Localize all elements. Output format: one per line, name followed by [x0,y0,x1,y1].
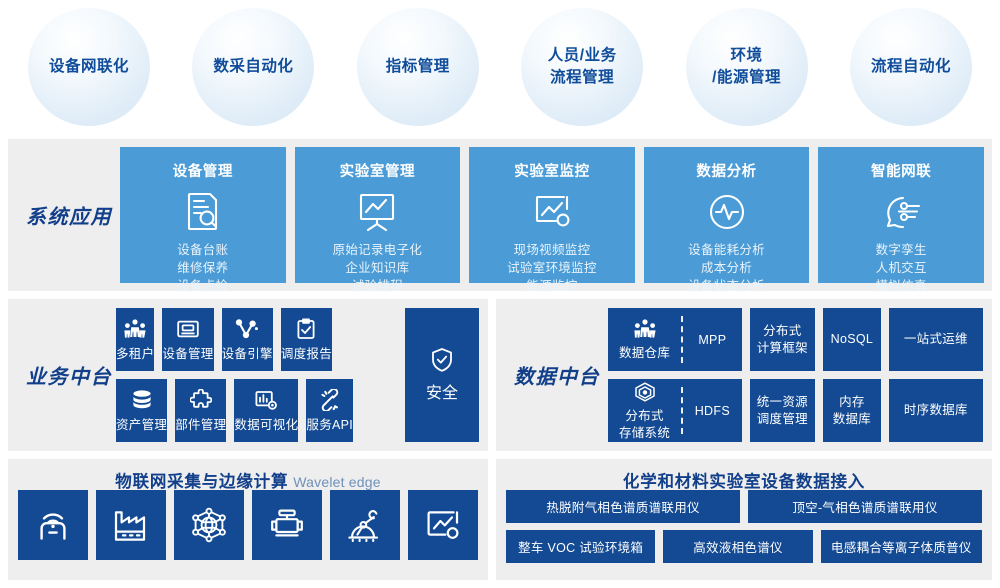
tile-label: 分布式 存储系统 [619,408,670,441]
lab-chip-icp-ms[interactable]: 电感耦合等离子体质普仪 [821,530,982,563]
tile-label-hdfs: HDFS [683,379,741,442]
business-tile-dispatch-report[interactable]: 调度报告 [281,308,332,371]
tile-label: NoSQL [831,331,874,347]
factory-icon [112,508,150,542]
lab-chip-label: 顶空-气相色谱质谱联用仪 [792,497,937,516]
tile-label: 时序数据库 [904,402,968,418]
tile-label: 设备引擎 [222,346,273,362]
lab-instruments-header: 化学和材料实验室设备数据接入 [496,459,992,490]
iot-edge-band: 物联网采集与边缘计算Wavelet edge [8,459,488,580]
business-platform-band: 业务中台 多租户 [8,299,488,451]
warehouse-people-icon [633,317,657,341]
capability-label: 流程自动化 [871,56,951,77]
card-title: 实验室管理 [340,160,416,181]
system-app-card-data-analysis[interactable]: 数据分析 设备能耗分析 成本分析 设备状态分析 [644,147,810,283]
capability-label: 指标管理 [386,56,450,77]
iot-edge-subtitle: Wavelet edge [293,474,381,490]
capability-bubble[interactable]: 设备网联化 [28,8,150,126]
lab-chip-hplc[interactable]: 高效液相色谱仪 [663,530,812,563]
capability-bubble[interactable]: 人员/业务 流程管理 [521,8,643,126]
puzzle-icon [190,388,212,412]
data-tile-warehouse-mpp[interactable]: 数据仓库 MPP [608,308,742,371]
capability-bubble[interactable]: 环境 /能源管理 [686,8,808,126]
data-tile-timeseries-database[interactable]: 时序数据库 [889,379,983,442]
business-tile-device-engine[interactable]: 设备引擎 [222,308,273,371]
lab-chip-label: 整车 VOC 试验环境箱 [518,537,643,556]
iot-icon-tile-factory[interactable] [96,490,166,560]
lab-chip-row-2: 整车 VOC 试验环境箱 高效液相色谱仪 电感耦合等离子体质普仪 [506,530,982,563]
business-tile-grid: 多租户 设备管理 [116,308,397,442]
business-tile-row-1: 多租户 设备管理 [116,308,397,371]
card-feature-lines: 设备能耗分析 成本分析 设备状态分析 [688,242,765,295]
data-tile-storage-hdfs[interactable]: 分布式 存储系统 HDFS [608,379,742,442]
tile-label: 设备管理 [162,346,213,362]
data-tile-memory-database[interactable]: 内存 数据库 [823,379,881,442]
lab-chip-voc-chamber[interactable]: 整车 VOC 试验环境箱 [506,530,655,563]
tile-label: 内存 数据库 [833,394,871,427]
data-tile-distributed-compute[interactable]: 分布式 计算框架 [750,308,815,371]
clipboard-check-icon [295,317,317,341]
data-tile-grid: 数据仓库 MPP 分布式 计算框架 NoSQL 一站式运维 [608,308,983,442]
capability-bubble[interactable]: 流程自动化 [850,8,972,126]
card-feature-lines: 设备台账 维修保养 设备点检 [177,242,228,295]
tile-label: 统一资源 调度管理 [757,394,808,427]
database-asset-icon [130,388,154,412]
iot-icon-track [8,490,488,570]
tile-label: 分布式 计算框架 [757,323,808,356]
data-platform-title: 数据中台 [514,361,600,390]
lab-chip-hs-gcms[interactable]: 顶空-气相色谱质谱联用仪 [748,490,982,523]
shield-check-icon [430,347,454,373]
business-tile-security[interactable]: 安全 [405,308,479,442]
split-divider [681,316,683,363]
iot-icon-tile-sensor-device[interactable] [252,490,322,560]
system-application-title: 系统应用 [26,201,112,230]
tile-label: 数据可视化 [234,417,298,433]
chart-eye-icon [254,388,278,412]
document-search-icon [183,191,223,233]
capability-label: 人员/业务 流程管理 [548,45,617,88]
capability-label: 环境 /能源管理 [712,45,781,88]
system-app-card-device-management[interactable]: 设备管理 设备台账 维修保养 设备点检 [120,147,286,283]
tile-label: 多租户 [116,346,154,362]
data-tile-row-1: 数据仓库 MPP 分布式 计算框架 NoSQL 一站式运维 [608,308,983,371]
lab-chip-track: 热脱附气相色谱质谱联用仪 顶空-气相色谱质谱联用仪 整车 VOC 试验环境箱 高… [496,490,992,573]
iot-icon-tile-robot-arm[interactable] [330,490,400,560]
data-platform-track: 数据仓库 MPP 分布式 计算框架 NoSQL 一站式运维 [608,308,983,442]
card-title: 实验室监控 [514,160,590,181]
iot-icon-tile-chart-monitor[interactable] [408,490,478,560]
system-application-band: 系统应用 设备管理 设备台账 维修保养 设备点检 实验室管理 [8,139,992,291]
data-tile-distributed-storage[interactable]: 分布式 存储系统 [608,379,681,442]
capability-label: 数采自动化 [213,56,293,77]
tile-label-mpp: MPP [683,308,741,371]
system-application-card-track: 设备管理 设备台账 维修保养 设备点检 实验室管理 [120,147,984,283]
card-title: 数据分析 [696,160,756,181]
tile-label: 调度报告 [281,346,332,362]
architecture-diagram: 设备网联化 数采自动化 指标管理 人员/业务 流程管理 环境 /能源管理 流程自… [0,0,1000,588]
head-connect-icon [879,191,923,233]
card-feature-lines: 数字孪生 人机交互 模拟仿真 [876,242,927,295]
iot-edge-title: 物联网采集与边缘计算 [115,473,288,491]
iot-icon-tile-wifi-sensor[interactable] [18,490,88,560]
lab-chip-td-gcms[interactable]: 热脱附气相色谱质谱联用仪 [506,490,740,523]
data-tile-resource-scheduling[interactable]: 统一资源 调度管理 [750,379,815,442]
capability-bubble[interactable]: 数采自动化 [192,8,314,126]
tile-label: 部件管理 [175,417,226,433]
robot-arm-icon [346,508,384,542]
business-tile-device-management[interactable]: 设备管理 [162,308,213,371]
lab-instruments-band: 化学和材料实验室设备数据接入 热脱附气相色谱质谱联用仪 顶空-气相色谱质谱联用仪… [496,459,992,580]
wifi-sensor-icon [35,507,71,543]
device-box-icon [176,317,200,341]
system-app-card-lab-monitoring[interactable]: 实验室监控 现场视频监控 试验室环境监控 能源监控 [469,147,635,283]
data-platform-band: 数据中台 [496,299,992,451]
tile-label: 一站式运维 [904,331,968,347]
split-divider [681,387,683,434]
sensor-device-icon [268,508,306,542]
lab-chip-label: 热脱附气相色谱质谱联用仪 [546,497,700,516]
cube-storage-icon [633,380,657,404]
system-app-card-smart-connected[interactable]: 智能网联 数字孪生 人机交互 模拟仿真 [818,147,984,283]
business-tile-asset-management[interactable]: 资产管理 [116,379,167,442]
tile-label: 资产管理 [116,417,167,433]
data-tile-nosql[interactable]: NoSQL [823,308,881,371]
monitor-chart-icon [530,191,574,233]
system-app-card-lab-management[interactable]: 实验室管理 原始记录电子化 企业知识库 试验排程 [295,147,461,283]
pulse-circle-icon [706,191,748,233]
capability-bubble-row: 设备网联化 数采自动化 指标管理 人员/业务 流程管理 环境 /能源管理 流程自… [0,0,1000,133]
node-engine-icon [235,317,259,341]
capability-label: 设备网联化 [49,56,129,77]
iot-icon-tile-network-globe[interactable] [174,490,244,560]
lab-chip-label: 高效液相色谱仪 [693,537,783,556]
business-tile-data-visualization[interactable]: 数据可视化 [234,379,298,442]
network-globe-icon [190,507,228,543]
card-feature-lines: 原始记录电子化 企业知识库 试验排程 [333,242,423,295]
card-feature-lines: 现场视频监控 试验室环境监控 能源监控 [507,242,597,295]
multi-tenant-icon [123,317,147,341]
tile-label: 数据仓库 [619,345,670,361]
chart-monitor-icon [424,508,462,542]
business-tile-service-api[interactable]: 服务API [306,379,353,442]
tile-label: 安全 [426,379,458,403]
lab-chip-row-1: 热脱附气相色谱质谱联用仪 顶空-气相色谱质谱联用仪 [506,490,982,523]
data-tile-one-stop-ops[interactable]: 一站式运维 [889,308,983,371]
plug-api-icon [318,388,342,412]
business-tile-multi-tenant[interactable]: 多租户 [116,308,154,371]
iot-edge-header: 物联网采集与边缘计算Wavelet edge [8,459,488,490]
business-tile-row-2: 资产管理 部件管理 [116,379,397,442]
business-platform-track: 多租户 设备管理 [116,308,479,442]
tile-label: 服务API [306,417,353,433]
presentation-chart-icon [355,191,399,233]
business-tile-component-management[interactable]: 部件管理 [175,379,226,442]
data-tile-row-2: 分布式 存储系统 HDFS 统一资源 调度管理 内存 数据库 时序数据库 [608,379,983,442]
lab-instruments-title: 化学和材料实验室设备数据接入 [623,473,865,491]
capability-bubble[interactable]: 指标管理 [357,8,479,126]
data-tile-warehouse[interactable]: 数据仓库 [608,308,681,371]
card-title: 智能网联 [871,160,931,181]
business-platform-title: 业务中台 [26,361,112,390]
card-title: 设备管理 [173,160,233,181]
lab-chip-label: 电感耦合等离子体质普仪 [831,537,972,556]
